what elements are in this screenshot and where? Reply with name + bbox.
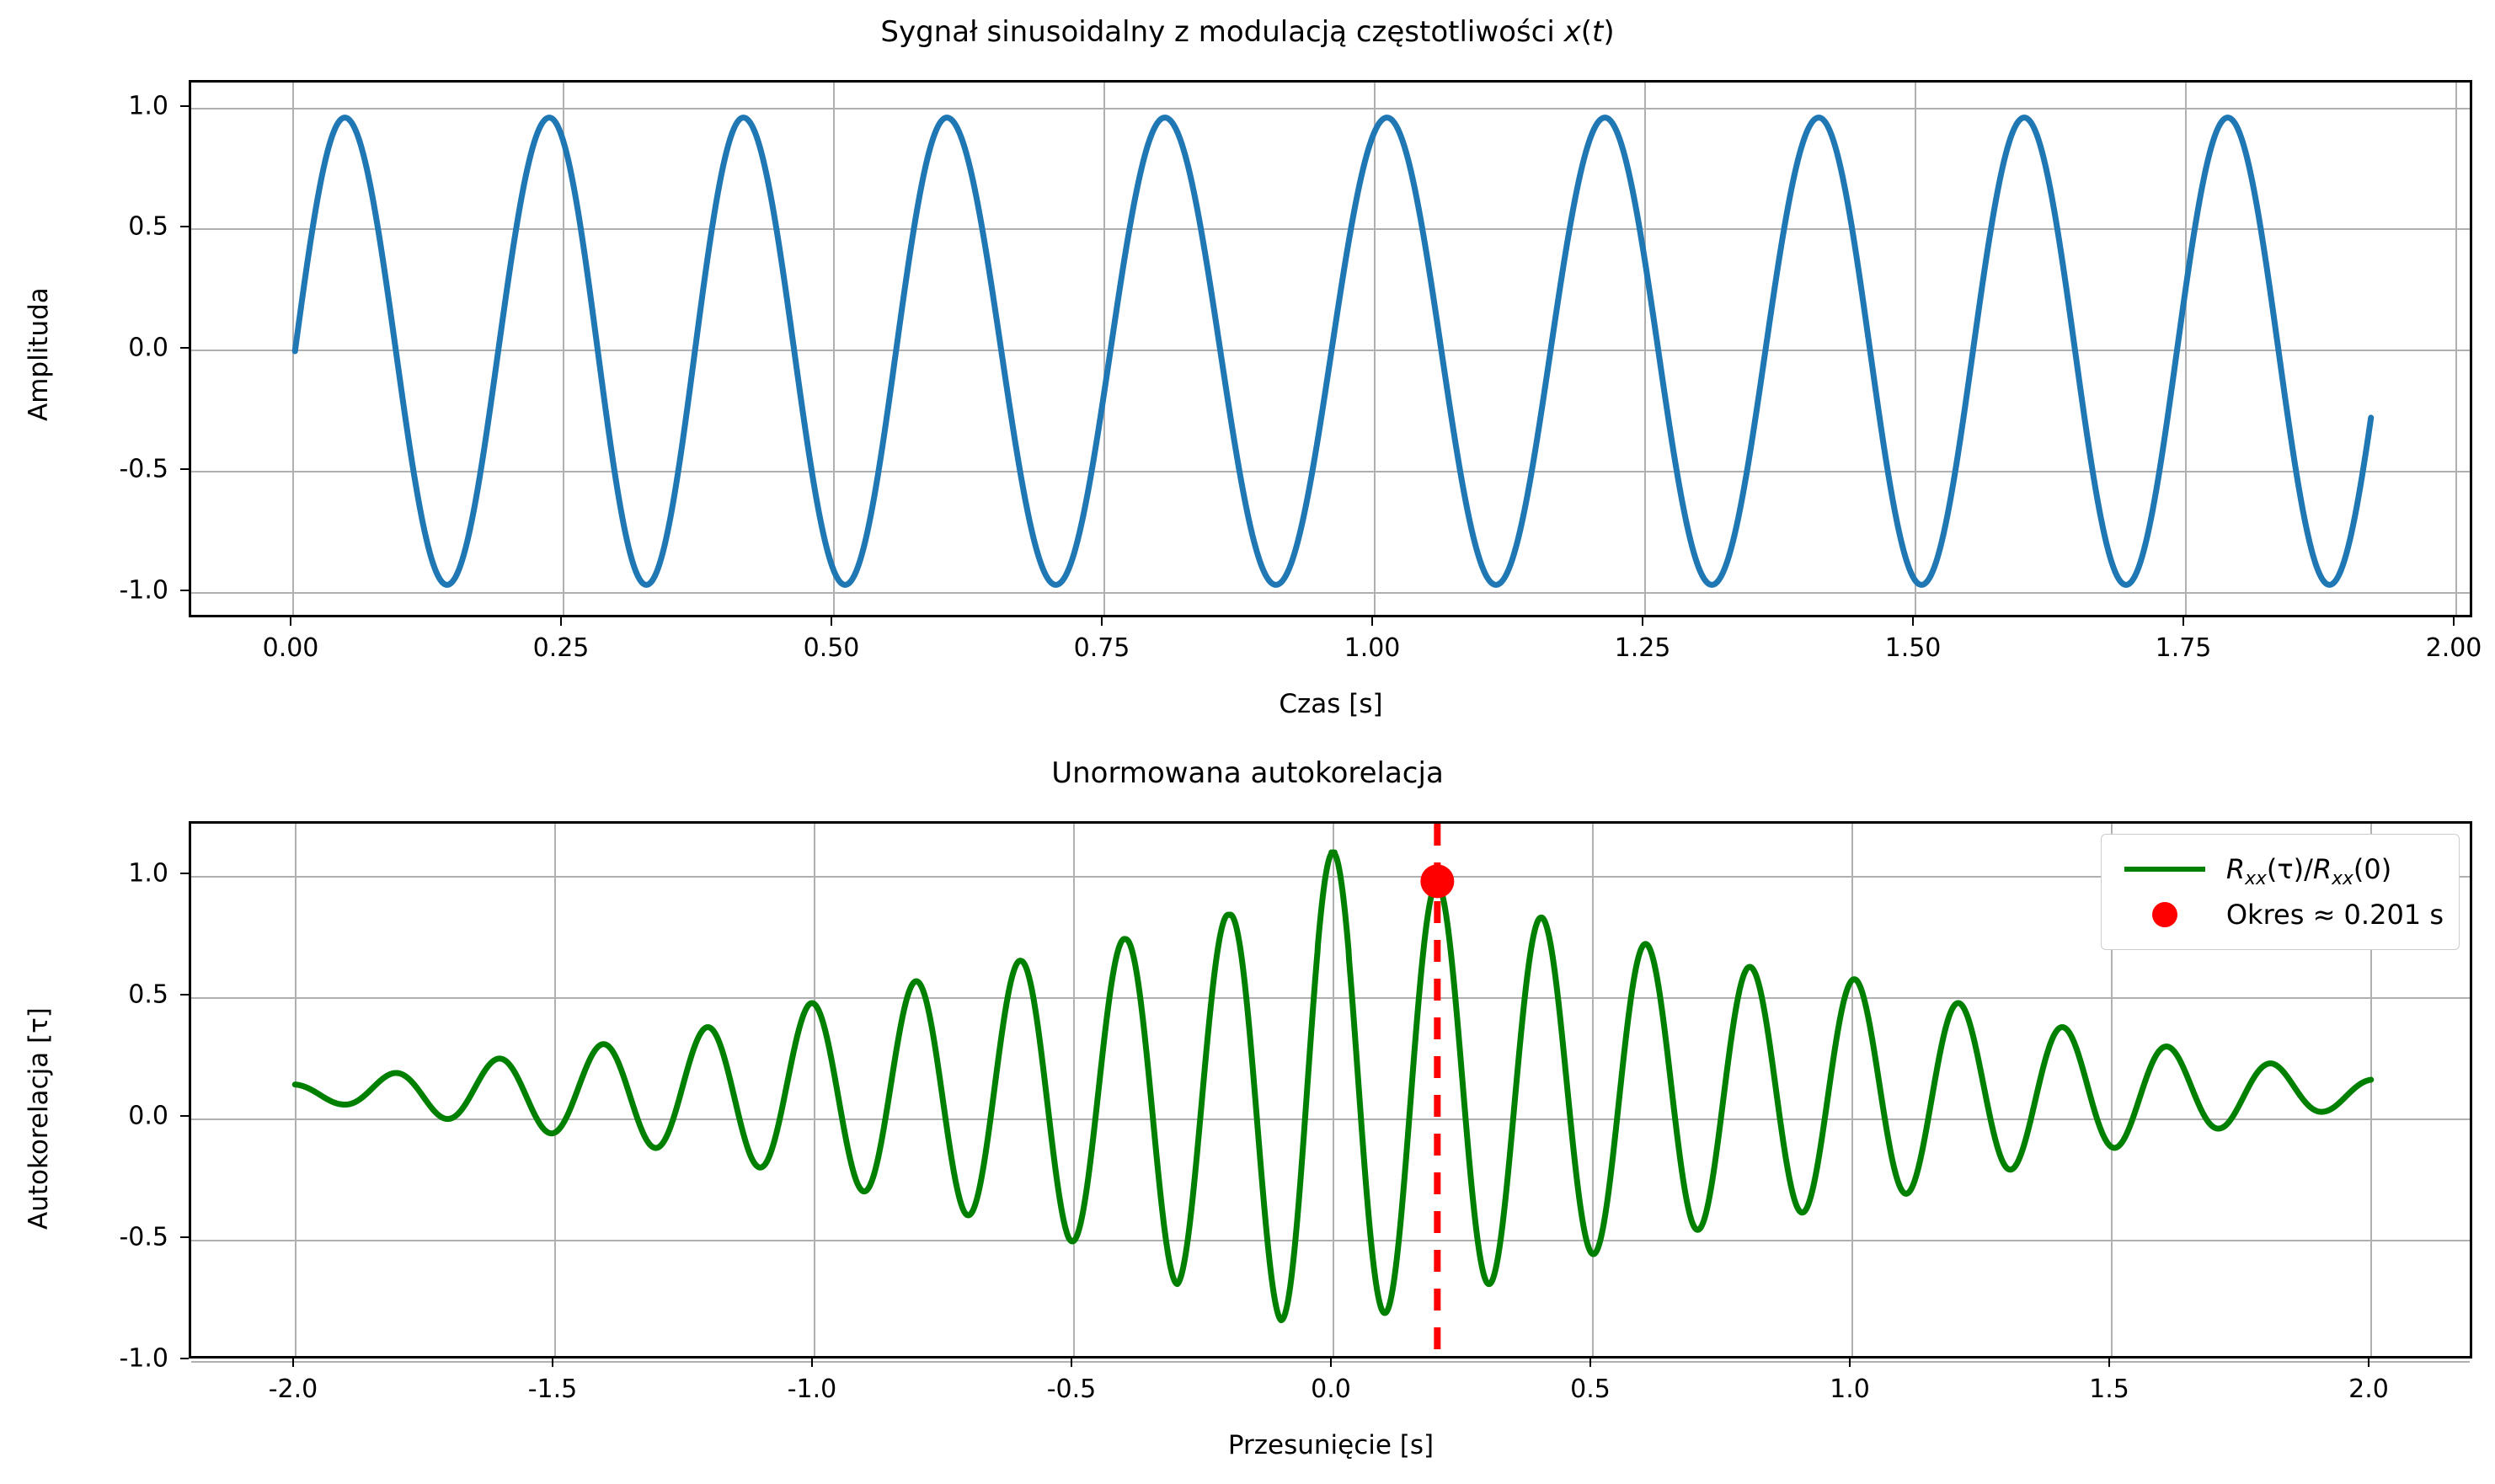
- legend-series-label: Rxx(τ)/Rxx(0): [2215, 853, 2391, 885]
- signal-xtick-8: 1.75: [2156, 633, 2212, 663]
- autocorrelation-ylabel: Autokorelacja [τ]: [24, 1007, 54, 1230]
- autocorr-xtickmark: [1589, 1359, 1591, 1367]
- autocorr-ytickmark: [180, 873, 189, 874]
- autocorr-xtickmark: [1849, 1359, 1851, 1367]
- signal-xtick-2: 0.25: [533, 633, 590, 663]
- autocorrelation-xlabel: Przesunięcie [s]: [1228, 1430, 1434, 1460]
- period-marker: [1420, 864, 1454, 898]
- autocorr-ytickmark: [180, 1115, 189, 1117]
- signal-title-var-x: x: [1564, 15, 1581, 49]
- signal-xtick-1: 0.00: [263, 633, 319, 663]
- autocorr-xtick-6: 0.5: [1570, 1375, 1611, 1404]
- signal-title-text: Sygnał sinusoidalny z modulacją częstotl…: [880, 15, 1563, 49]
- signal-title-paren-open: (: [1581, 15, 1592, 49]
- autocorr-xtickmark: [292, 1359, 294, 1367]
- legend-line-swatch: [2115, 867, 2215, 872]
- autocorr-ytickmark: [180, 1236, 189, 1238]
- autocorr-xtickmark: [2108, 1359, 2110, 1367]
- autocorr-xtickmark: [1330, 1359, 1332, 1367]
- autocorrelation-plot-title: Unormowana autokorelacja: [0, 756, 2495, 790]
- signal-ytick-4: -0.5: [42, 455, 168, 484]
- autocorr-ytick-2: 0.5: [42, 980, 168, 1010]
- signal-xtick-6: 1.25: [1615, 633, 1671, 663]
- signal-ytickmark-5: [180, 590, 189, 591]
- autocorr-ytick-1: 1.0: [42, 859, 168, 889]
- signal-ytickmark-1: [180, 105, 189, 107]
- signal-curve: [191, 83, 2475, 620]
- signal-ytickmark-3: [180, 347, 189, 349]
- autocorr-ytickmark: [180, 1358, 189, 1359]
- signal-ytick-1: 1.0: [42, 92, 168, 121]
- autocorr-ytick-4: -0.5: [42, 1223, 168, 1252]
- legend-marker-label: Okres ≈ 0.201 s: [2215, 899, 2444, 931]
- signal-xtickmark: [1371, 617, 1373, 626]
- signal-xtick-5: 1.00: [1344, 633, 1401, 663]
- signal-xtick-3: 0.50: [804, 633, 860, 663]
- signal-xlabel: Czas [s]: [1279, 689, 1382, 719]
- legend-row-marker: Okres ≈ 0.201 s: [2115, 892, 2444, 937]
- signal-title-var-t: t: [1592, 15, 1603, 49]
- signal-ytick-3: 0.0: [42, 334, 168, 363]
- signal-axes: [189, 80, 2472, 617]
- autocorr-ytick-5: -1.0: [42, 1344, 168, 1374]
- signal-xtick-9: 2.00: [2426, 633, 2482, 663]
- signal-xtickmark: [290, 617, 291, 626]
- autocorr-xtick-7: 1.0: [1830, 1375, 1870, 1404]
- signal-plot-title: Sygnał sinusoidalny z modulacją częstotl…: [0, 15, 2495, 49]
- autocorr-xtick-1: -2.0: [269, 1375, 318, 1404]
- autocorrelation-axes: Rxx(τ)/Rxx(0) Okres ≈ 0.201 s: [189, 821, 2472, 1359]
- autocorr-xtickmark: [2368, 1359, 2369, 1367]
- autocorrelation-legend: Rxx(τ)/Rxx(0) Okres ≈ 0.201 s: [2101, 834, 2460, 950]
- signal-xtickmark: [1101, 617, 1103, 626]
- autocorr-xtick-2: -1.5: [528, 1375, 578, 1404]
- signal-xtickmark: [560, 617, 562, 626]
- signal-xtickmark: [2182, 617, 2184, 626]
- signal-xtick-4: 0.75: [1074, 633, 1130, 663]
- signal-ytick-5: -1.0: [42, 576, 168, 606]
- autocorr-xtick-9: 2.0: [2348, 1375, 2389, 1404]
- signal-xtickmark: [2453, 617, 2455, 626]
- autocorr-xtickmark: [552, 1359, 553, 1367]
- signal-xtickmark: [831, 617, 832, 626]
- autocorrelation-panel: Unormowana autokorelacja 1.0 0.5 0.0 -0.…: [0, 741, 2495, 1484]
- autocorr-xtick-5: 0.0: [1311, 1375, 1351, 1404]
- autocorr-xtick-3: -1.0: [788, 1375, 837, 1404]
- legend-dot-swatch: [2115, 902, 2215, 927]
- figure-canvas: Sygnał sinusoidalny z modulacją częstotl…: [0, 0, 2495, 1484]
- autocorr-xtick-4: -0.5: [1047, 1375, 1097, 1404]
- signal-panel: Sygnał sinusoidalny z modulacją częstotl…: [0, 0, 2495, 741]
- signal-xtickmark: [1912, 617, 1914, 626]
- signal-ytickmark-2: [180, 226, 189, 227]
- legend-row-series: Rxx(τ)/Rxx(0): [2115, 846, 2444, 892]
- signal-xtickmark: [1642, 617, 1643, 626]
- autocorr-ytick-3: 0.0: [42, 1102, 168, 1131]
- signal-xtick-7: 1.50: [1885, 633, 1942, 663]
- signal-ytick-2: 0.5: [42, 212, 168, 242]
- autocorr-ytickmark: [180, 994, 189, 996]
- autocorr-xtickmark: [811, 1359, 813, 1367]
- autocorr-xtickmark: [1071, 1359, 1072, 1367]
- autocorr-xtick-8: 1.5: [2089, 1375, 2129, 1404]
- signal-title-paren-close: ): [1603, 15, 1614, 49]
- signal-ytickmark-4: [180, 468, 189, 470]
- signal-ylabel: Amplituda: [24, 287, 54, 421]
